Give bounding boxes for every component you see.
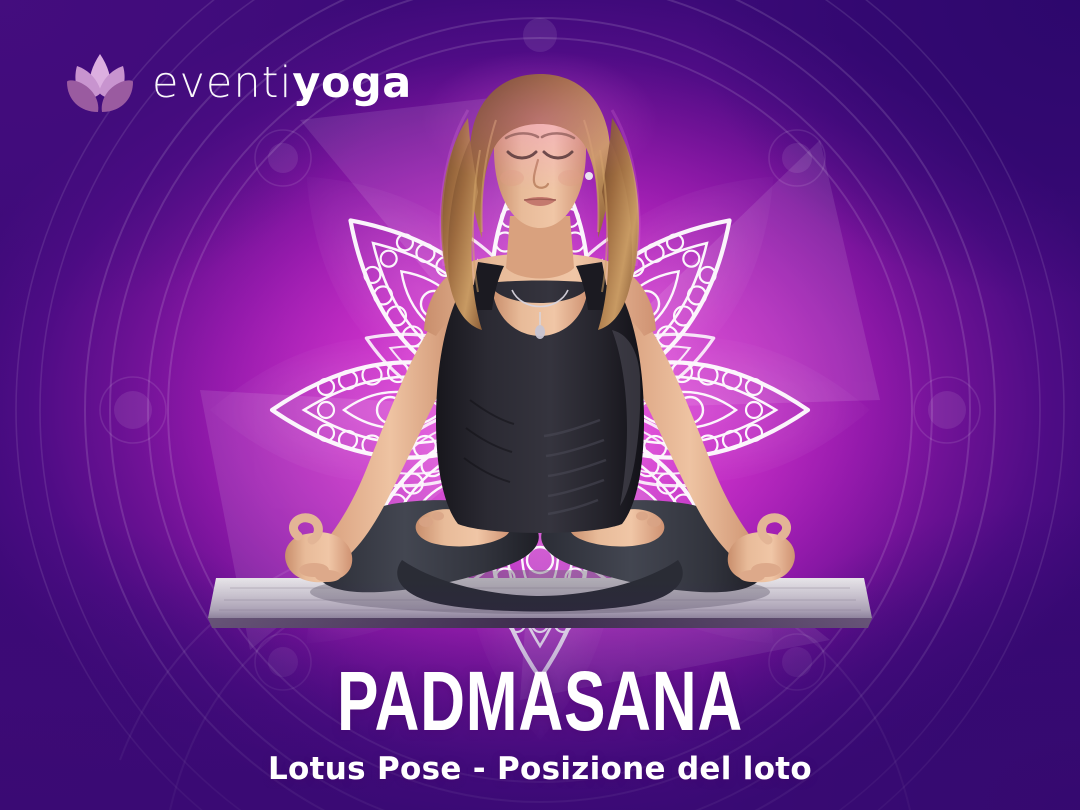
title-block: PADMASANA Lotus Pose - Posizione del lot… (0, 663, 1080, 786)
brand-name-bold: yoga (292, 58, 411, 108)
poster-canvas: eventiyoga PADMASANA Lotus Pose - Posizi… (0, 0, 1080, 810)
brand-name-light: eventi (152, 58, 292, 108)
brand-logo[interactable]: eventiyoga (62, 52, 412, 114)
brand-wordmark: eventiyoga (152, 62, 412, 105)
pose-translation-subtitle: Lotus Pose - Posizione del loto (0, 752, 1080, 786)
lotus-flower-icon (62, 52, 138, 114)
pose-sanskrit-title: PADMASANA (140, 663, 939, 740)
